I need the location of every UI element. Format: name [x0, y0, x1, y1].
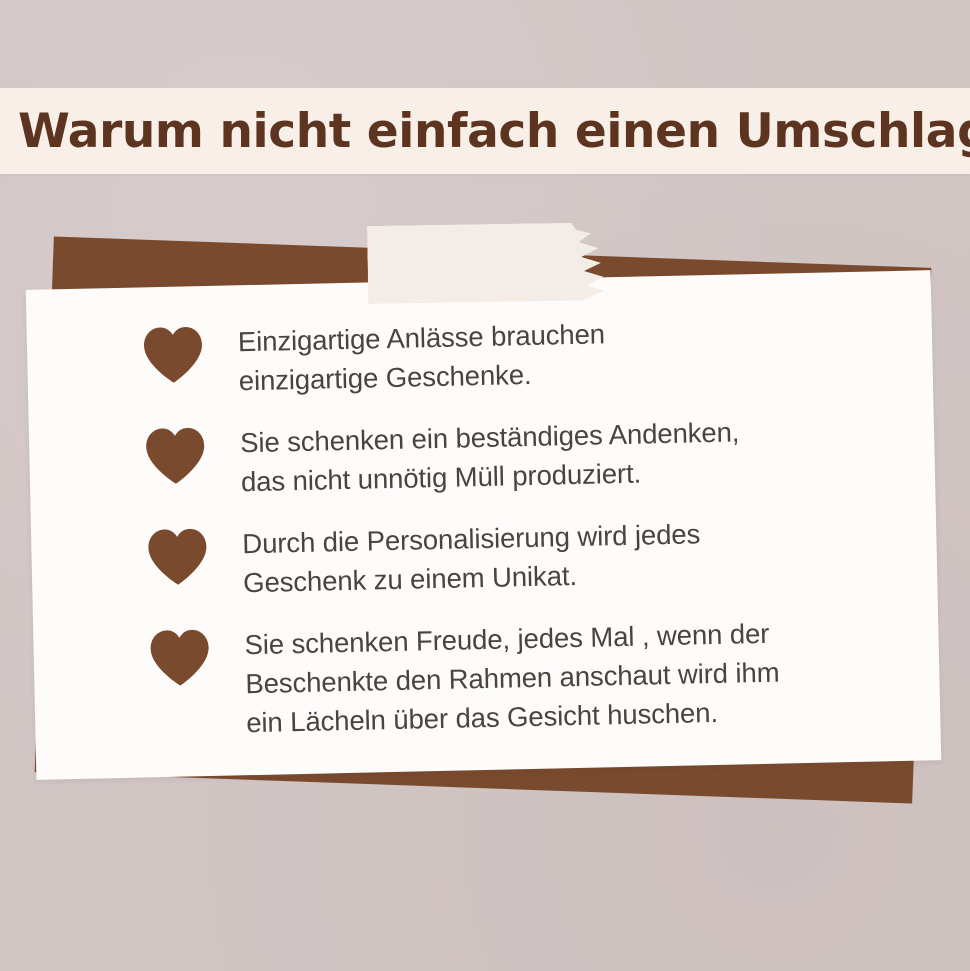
heart-icon: [146, 527, 209, 586]
page-title: Warum nicht einfach einen Umschlag?: [0, 104, 970, 159]
heart-icon: [148, 628, 211, 687]
benefits-list: Einzigartige Anlässe brauchen einzigarti…: [26, 270, 941, 780]
title-band: Warum nicht einfach einen Umschlag?: [0, 88, 970, 174]
list-item: Einzigartige Anlässe brauchen einzigarti…: [141, 305, 933, 402]
list-item-text: Einzigartige Anlässe brauchen einzigarti…: [237, 312, 606, 400]
list-item: Durch die Personalisierung wird jedes Ge…: [146, 507, 938, 604]
heart-icon: [142, 325, 205, 384]
list-item-text: Durch die Personalisierung wird jedes Ge…: [242, 512, 702, 602]
heart-icon: [144, 426, 207, 485]
list-item-text: Sie schenken Freude, jedes Mal , wenn de…: [244, 612, 781, 743]
white-content-card: Einzigartige Anlässe brauchen einzigarti…: [26, 270, 941, 780]
list-item-text: Sie schenken ein beständiges Andenken, d…: [240, 410, 741, 501]
washi-tape: [367, 222, 611, 304]
poster-canvas: Warum nicht einfach einen Umschlag? Einz…: [0, 0, 970, 971]
list-item: Sie schenken Freude, jedes Mal , wenn de…: [148, 608, 940, 744]
list-item: Sie schenken ein beständiges Andenken, d…: [144, 406, 936, 503]
